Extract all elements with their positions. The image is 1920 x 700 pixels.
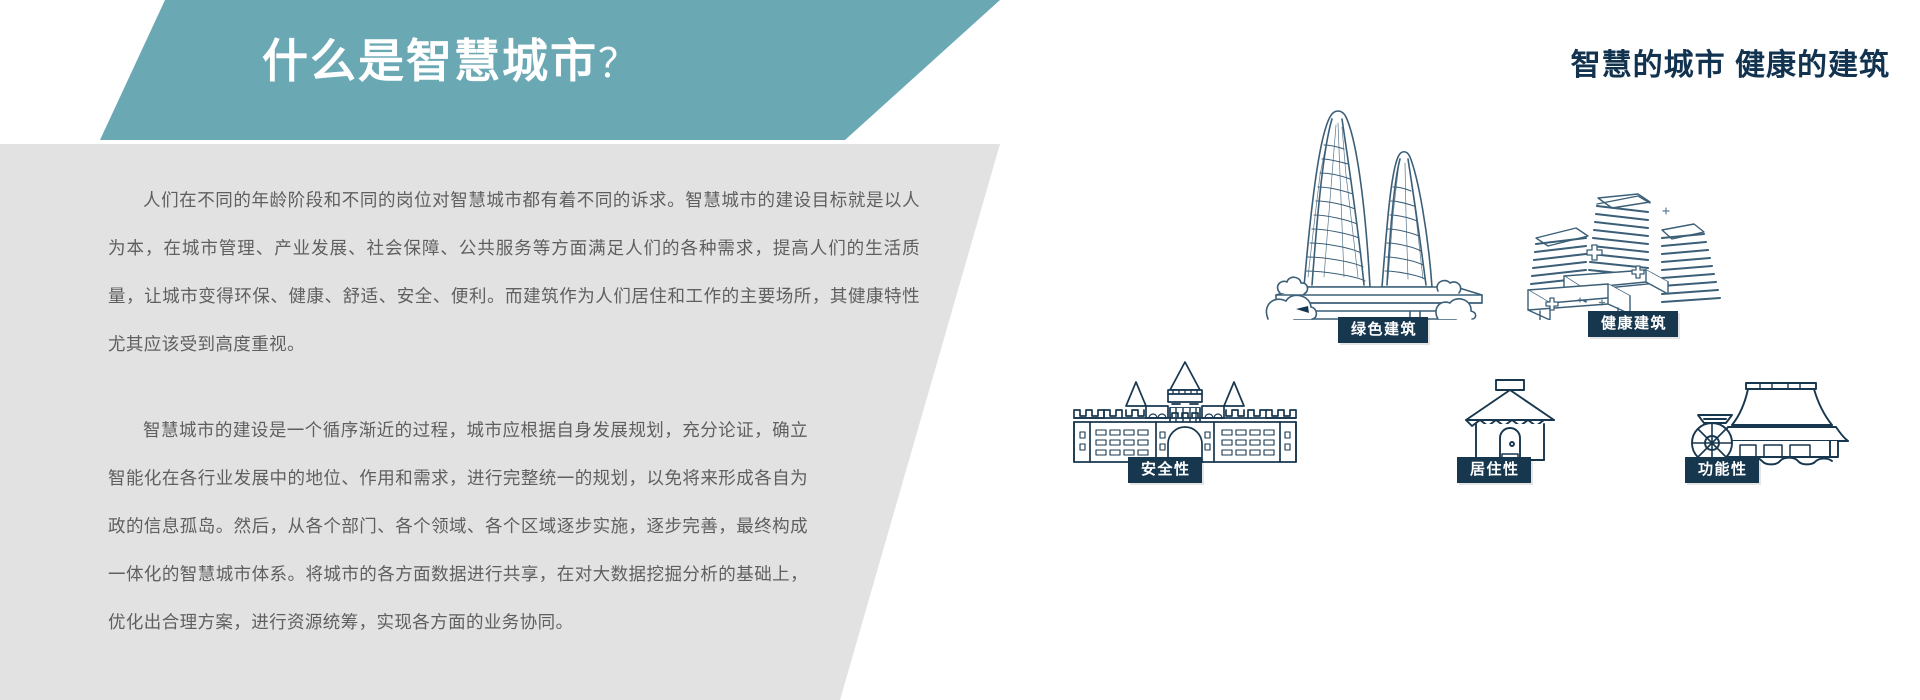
body-paragraphs: 人们在不同的年龄阶段和不同的岗位对智慧城市都有着不同的诉求。智慧城市的建设目标就… — [108, 176, 920, 646]
page-title: 什么是智慧城市？ — [262, 34, 640, 89]
label-livability: 居住性 — [1457, 457, 1531, 483]
label-green-building: 绿色建筑 — [1338, 317, 1428, 343]
paragraph-2: 智慧城市的建设是一个循序渐近的过程，城市应根据自身发展规划，充分论证，确立智能化… — [108, 406, 808, 646]
pavilion-icon — [1690, 375, 1850, 470]
paragraph-1: 人们在不同的年龄阶段和不同的岗位对智慧城市都有着不同的诉求。智慧城市的建设目标就… — [108, 176, 920, 368]
page-title-text: 什么是智慧城市 — [262, 35, 598, 87]
castle-icon — [1060, 358, 1310, 468]
page-title-question-mark: ？ — [598, 42, 640, 86]
twisted-towers-icon — [1260, 105, 1490, 320]
label-safety: 安全性 — [1128, 457, 1202, 483]
label-functionality: 功能性 — [1685, 457, 1759, 483]
right-heading: 智慧的城市 健康的建筑 — [1571, 40, 1890, 84]
label-health-building: 健康建筑 — [1588, 311, 1678, 337]
left-content-column: 什么是智慧城市？ 人们在不同的年龄阶段和不同的岗位对智慧城市都有着不同的诉求。智… — [0, 0, 1120, 700]
house-icon — [1450, 378, 1570, 468]
hospital-complex-icon — [1490, 190, 1740, 320]
right-illustration-column: 智慧的城市 健康的建筑 — [1120, 0, 1920, 700]
